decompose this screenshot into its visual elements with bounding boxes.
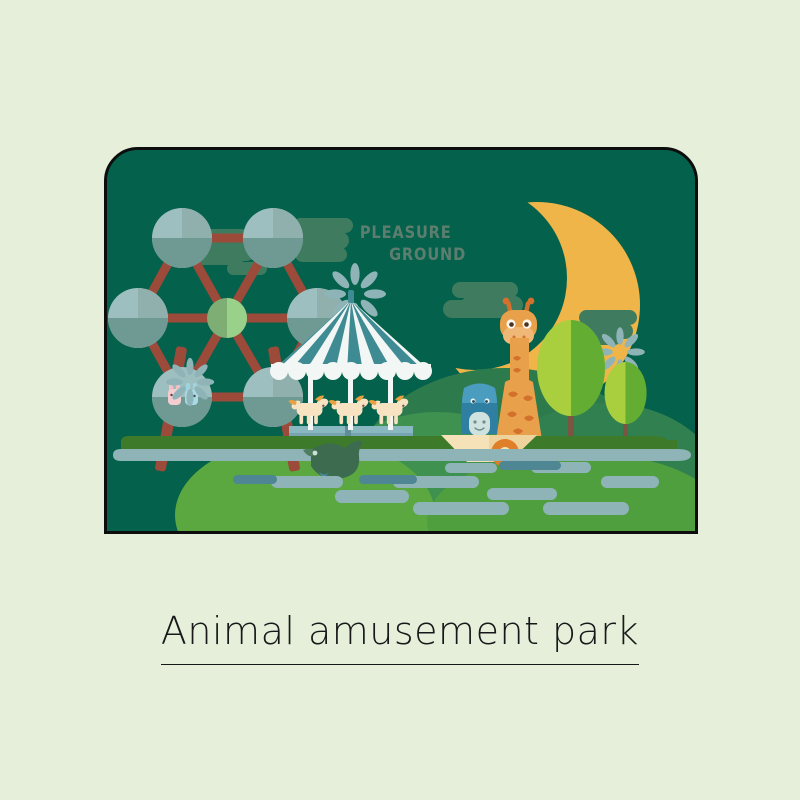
illustration-page: PLEASURE GROUND [0, 0, 800, 800]
carousel-finial [348, 290, 354, 303]
ferris-cabin [152, 208, 212, 268]
ground-strip [121, 436, 677, 449]
caption-area: Animal amusement park [0, 612, 800, 665]
water-bank [113, 449, 691, 461]
page-title: Animal amusement park [161, 612, 639, 665]
sign-line-2: GROUND [389, 244, 466, 264]
carousel-tent-scallop [270, 362, 432, 380]
ferris-cabin [243, 208, 303, 268]
ferris-wheel-hub [207, 298, 247, 338]
penguin-head-highlight [462, 384, 497, 404]
ferris-cabin [108, 288, 168, 348]
penguin-belly [469, 412, 490, 436]
sign-line-1: PLEASURE [360, 222, 452, 242]
illustration-card: PLEASURE GROUND [104, 147, 698, 534]
penguin [461, 384, 498, 437]
amusement-park-scene: PLEASURE GROUND [107, 150, 695, 531]
